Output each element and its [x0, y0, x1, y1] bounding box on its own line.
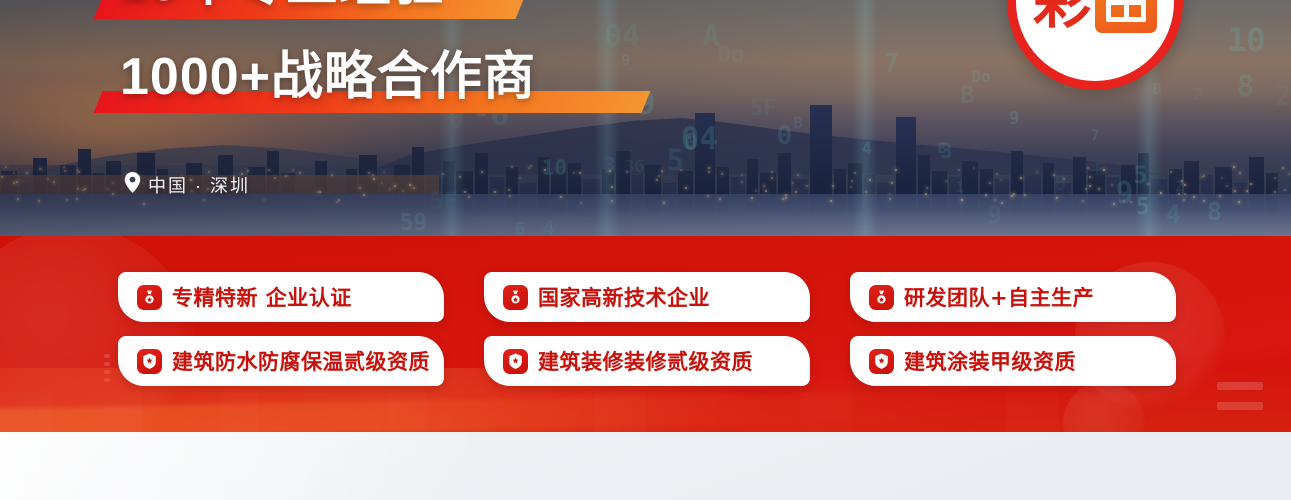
credential-pill[interactable]: 建筑涂装甲级资质 — [850, 336, 1176, 386]
credential-label: 建筑装修装修贰级资质 — [538, 346, 753, 376]
logo-character-tian-icon — [1095, 0, 1157, 33]
credential-pill[interactable]: 建筑防水防腐保温贰级资质 — [118, 336, 444, 386]
decorative-dash-small — [104, 354, 110, 358]
credential-label: 专精特新 企业认证 — [172, 282, 352, 312]
credential-pill[interactable]: 专精特新 企业认证 — [118, 272, 444, 322]
credential-pill[interactable]: 建筑装修装修贰级资质 — [484, 336, 810, 386]
poster-canvas: 045F104EDo3592678B14B18597A0962393640B59… — [0, 0, 1291, 500]
decorative-dash-small — [104, 362, 110, 366]
footer-sheen — [0, 432, 594, 500]
headline-row-2: 1000+战略合作商 — [120, 40, 536, 114]
medal-icon — [869, 285, 894, 310]
shield-icon — [503, 349, 528, 374]
headline-line-1: 15年专业经验 — [120, 0, 536, 20]
headline-line-2: 1000+战略合作商 — [120, 40, 536, 114]
page-footer — [0, 432, 1291, 500]
credential-label: 建筑防水防腐保温贰级资质 — [172, 346, 430, 376]
location-label: 中国 · 深圳 — [124, 172, 250, 198]
medal-icon — [503, 285, 528, 310]
location-text: 中国 · 深圳 — [148, 172, 250, 198]
headline-block: 15年专业经验 1000+战略合作商 — [120, 0, 536, 114]
credential-label: 研发团队+自主生产 — [904, 282, 1094, 312]
medal-icon — [137, 285, 162, 310]
credential-label: 国家高新技术企业 — [538, 282, 710, 312]
logo-character-cai: 彩 — [1033, 0, 1091, 31]
credential-pill[interactable]: 研发团队+自主生产 — [850, 272, 1176, 322]
logo-tian-frame — [1106, 0, 1146, 22]
headline-row-1: 15年专业经验 — [120, 0, 536, 20]
map-pin-icon — [124, 172, 141, 198]
shield-icon — [869, 349, 894, 374]
shield-icon — [137, 349, 162, 374]
credential-label: 建筑涂装甲级资质 — [904, 346, 1076, 376]
credentials-list: 专精特新 企业认证国家高新技术企业研发团队+自主生产建筑防水防腐保温贰级资质建筑… — [118, 272, 1176, 386]
credential-pill[interactable]: 国家高新技术企业 — [484, 272, 810, 322]
